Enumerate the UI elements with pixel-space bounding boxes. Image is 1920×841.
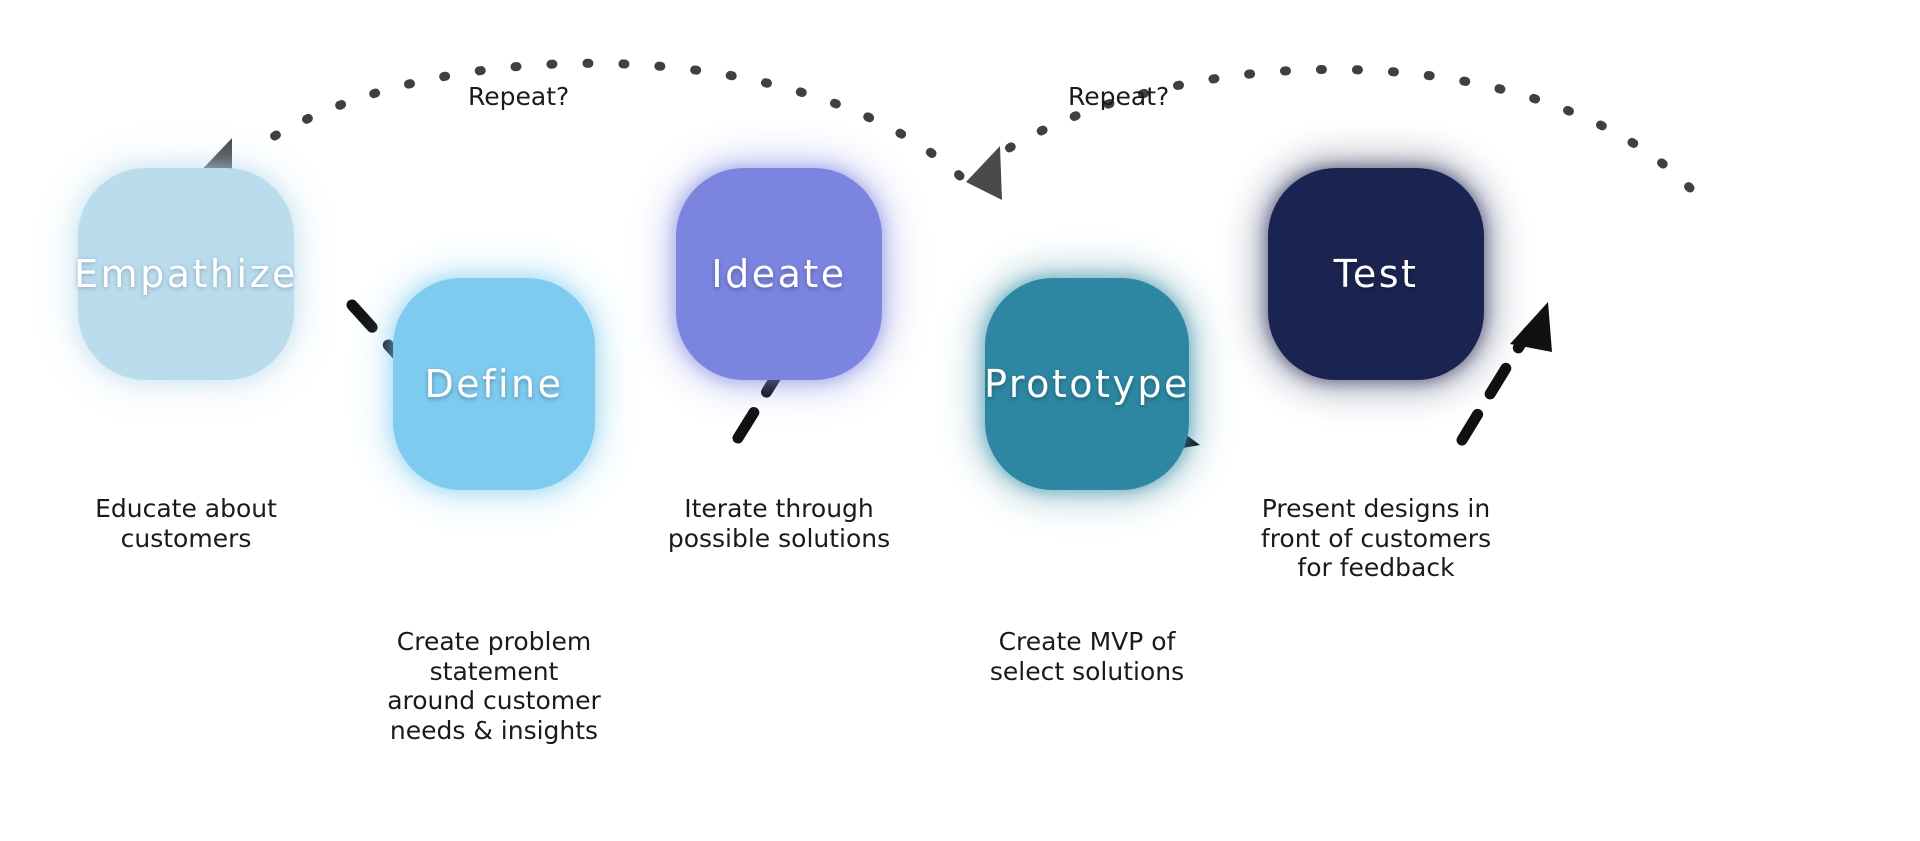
stage-caption-prototype: Create MVP of select solutions — [948, 627, 1226, 686]
stage-label-define: Define — [424, 362, 563, 406]
repeat-label-2: Repeat? — [1068, 82, 1169, 111]
stage-caption-define: Create problem statement around customer… — [356, 627, 632, 745]
stage-caption-test: Present designs in front of customers fo… — [1232, 494, 1520, 583]
stage-box-ideate[interactable]: Ideate — [676, 168, 882, 380]
stage-box-prototype[interactable]: Prototype — [985, 278, 1189, 490]
stage-caption-empathize: Educate about customers — [48, 494, 324, 553]
stage-box-empathize[interactable]: Empathize — [78, 168, 294, 380]
connector-layer — [0, 0, 1920, 841]
stage-label-ideate: Ideate — [711, 252, 846, 296]
stage-label-empathize: Empathize — [74, 252, 298, 296]
stage-caption-ideate: Iterate through possible solutions — [640, 494, 918, 553]
stage-label-prototype: Prototype — [984, 362, 1190, 406]
stage-label-test: Test — [1334, 252, 1419, 296]
stage-box-test[interactable]: Test — [1268, 168, 1484, 380]
stage-box-define[interactable]: Define — [393, 278, 595, 490]
design-thinking-diagram: Empathize Define Ideate Prototype Test E… — [0, 0, 1920, 841]
repeat-label-1: Repeat? — [468, 82, 569, 111]
